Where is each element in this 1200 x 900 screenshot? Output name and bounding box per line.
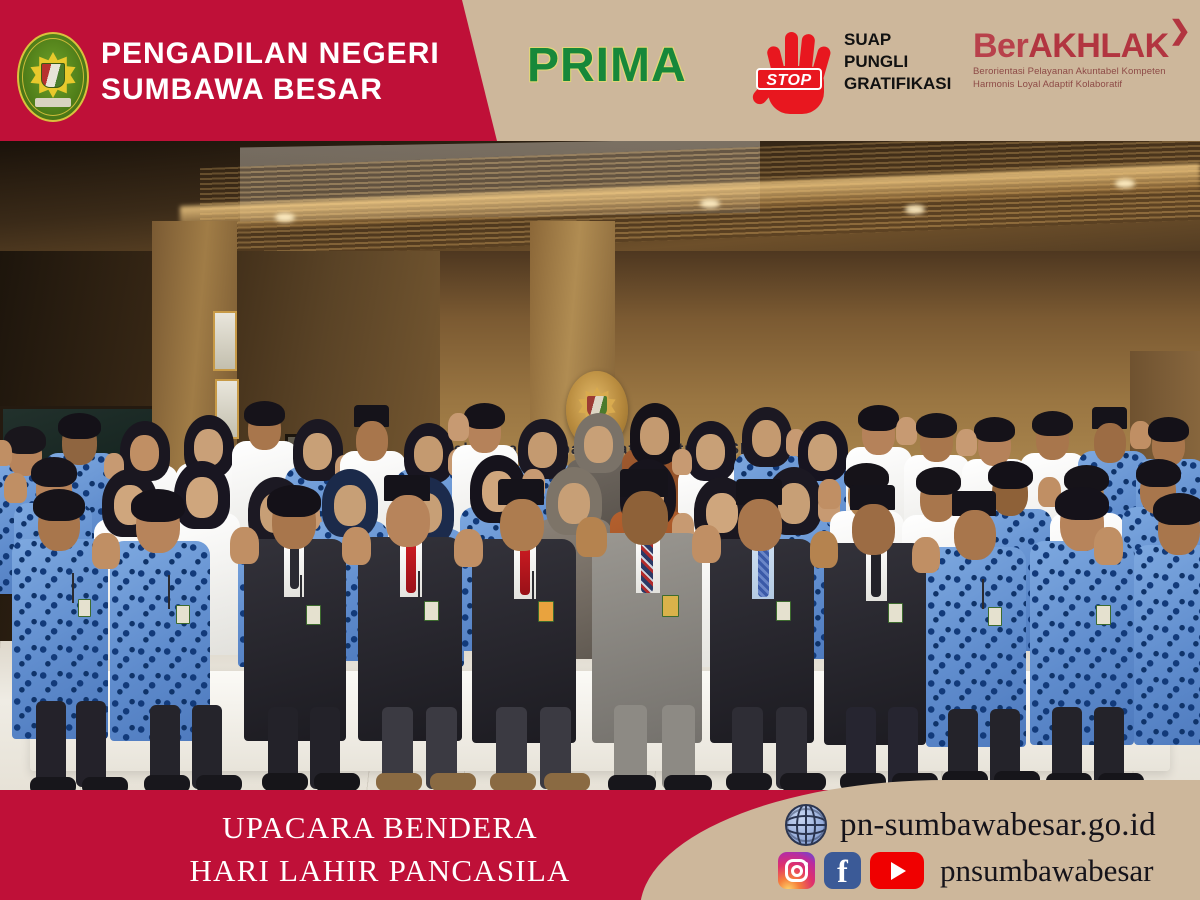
berakhlak-prefix: Ber (973, 27, 1028, 65)
social-handle[interactable]: pnsumbawabesar (940, 853, 1154, 889)
instagram-icon[interactable] (778, 852, 815, 889)
pungli-line3: GRATIFIKASI (844, 73, 964, 95)
berakhlak-logo: BerAKHLAK❯ Berorientasi Pelayanan Akunta… (973, 28, 1183, 91)
pungli-line1: SUAP (844, 29, 964, 51)
event-title-line2: HARI LAHIR PANCASILA (60, 849, 700, 892)
anti-gratification-logo: STOP SUAP PUNGLI GRATIFIKASI (760, 22, 960, 122)
youtube-icon[interactable] (870, 852, 924, 889)
event-title-line1: UPACARA BENDERA (60, 806, 700, 849)
berakhlak-title: BerAKHLAK❯ (973, 28, 1183, 64)
header-bar: PENGADILAN NEGERI SUMBAWA BESAR PRIMA ST… (0, 0, 1200, 141)
website-row[interactable]: pn-sumbawabesar.go.id (785, 804, 1156, 846)
chevron-right-icon: ❯ (1169, 19, 1185, 41)
court-name: PENGADILAN NEGERI SUMBAWA BESAR (101, 36, 461, 108)
footer-bar: UPACARA BENDERA HARI LAHIR PANCASILA pn-… (0, 790, 1200, 900)
event-title: UPACARA BENDERA HARI LAHIR PANCASILA (60, 806, 700, 892)
berakhlak-tagline-line2: Harmonis Loyal Adaptif Kolaboratif (973, 79, 1183, 92)
berakhlak-main: AKHLAK (1028, 27, 1169, 65)
prima-label: PRIMA (527, 38, 687, 93)
pungli-line2: PUNGLI (844, 51, 964, 73)
stop-badge: STOP (756, 68, 822, 90)
court-name-line2: SUMBAWA BESAR (101, 72, 461, 108)
facebook-glyph: f (824, 852, 861, 889)
anti-gratification-text: SUAP PUNGLI GRATIFIKASI (844, 29, 964, 95)
website-url[interactable]: pn-sumbawabesar.go.id (840, 807, 1156, 844)
court-name-line1: PENGADILAN NEGERI (101, 37, 440, 70)
berakhlak-tagline: Berorientasi Pelayanan Akuntabel Kompete… (973, 66, 1183, 91)
berakhlak-tagline-line1: Berorientasi Pelayanan Akuntabel Kompete… (973, 66, 1183, 79)
red-hand-icon: STOP (760, 26, 832, 114)
framed-certificate (213, 311, 237, 371)
court-emblem-icon (17, 32, 89, 122)
social-row[interactable]: f pnsumbawabesar (778, 852, 1154, 889)
facebook-icon[interactable]: f (824, 852, 861, 889)
globe-icon (785, 804, 827, 846)
group-photo: PENGADILAN NEGERI SBW Pelayanan Terpadu … (0, 141, 1200, 790)
poster-canvas: PENGADILAN NEGERI SUMBAWA BESAR PRIMA ST… (0, 0, 1200, 900)
